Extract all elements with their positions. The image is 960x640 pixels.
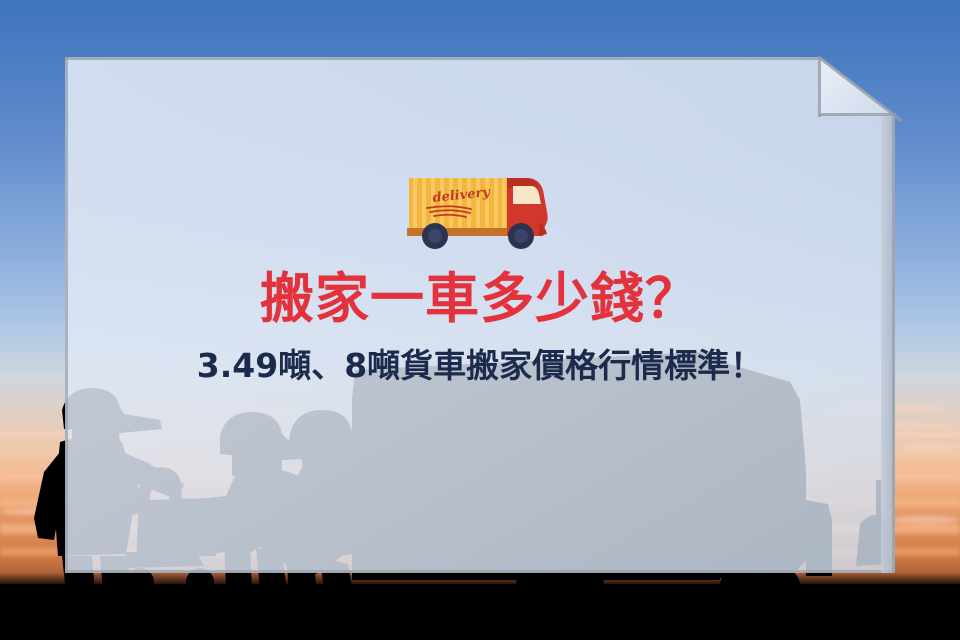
poster-canvas: delivery 搬家一車多少錢？ 3.49噸、8噸貨車搬家價格行情標準 [0,0,960,640]
ground-silhouette [0,584,960,640]
truck-front-hub [514,229,528,243]
page-title: 搬家一車多少錢？ [65,272,895,326]
page-subtitle: 3.49噸、8噸貨車搬家價格行情標準！ [65,349,895,382]
delivery-truck-icon: delivery [405,170,551,250]
truck-rear-hub [428,229,442,243]
poster-content: delivery 搬家一車多少錢？ 3.49噸、8噸貨車搬家價格行情標準 [65,57,895,573]
